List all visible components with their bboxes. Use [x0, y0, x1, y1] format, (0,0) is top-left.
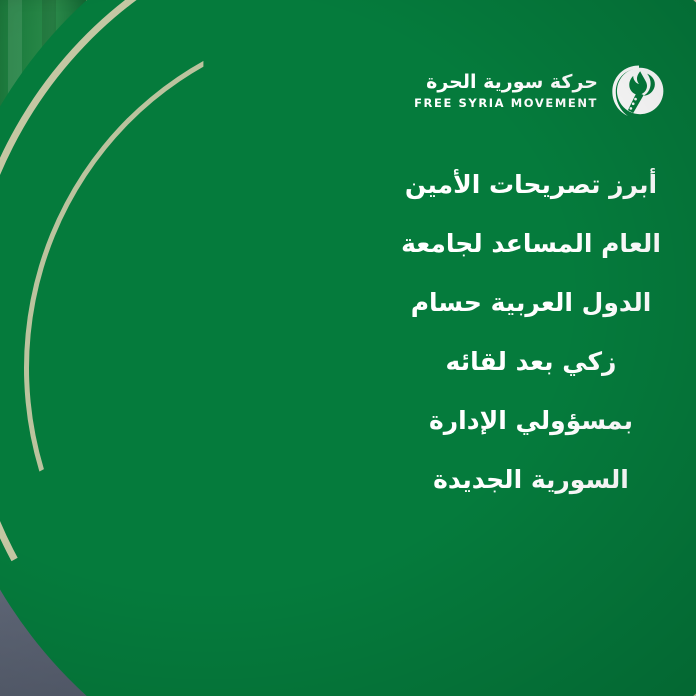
- brand-logo[interactable]: حركة سورية الحرة FREE SYRIA MOVEMENT: [414, 62, 668, 120]
- social-media-card: حركة سورية الحرة FREE SYRIA MOVEMENT: [0, 0, 696, 696]
- headline-line: أبرز تصريحات الأمين: [388, 172, 674, 197]
- headline-line: زكي بعد لقائه: [388, 349, 674, 374]
- brand-name-arabic: حركة سورية الحرة: [414, 73, 598, 93]
- brand-logo-text: حركة سورية الحرة FREE SYRIA MOVEMENT: [414, 73, 598, 110]
- brand-content: حركة سورية الحرة FREE SYRIA MOVEMENT: [366, 0, 696, 696]
- torch-flame-icon: [610, 62, 668, 120]
- headline-line: السورية الجديدة: [388, 467, 674, 492]
- headline-line: العام المساعد لجامعة: [388, 231, 674, 256]
- headline-line: بمسؤولي الإدارة: [388, 408, 674, 433]
- brand-name-english: FREE SYRIA MOVEMENT: [414, 97, 598, 109]
- headline-text: أبرز تصريحات الأمين العام المساعد لجامعة…: [388, 172, 674, 492]
- headline-line: الدول العربية حسام: [388, 290, 674, 315]
